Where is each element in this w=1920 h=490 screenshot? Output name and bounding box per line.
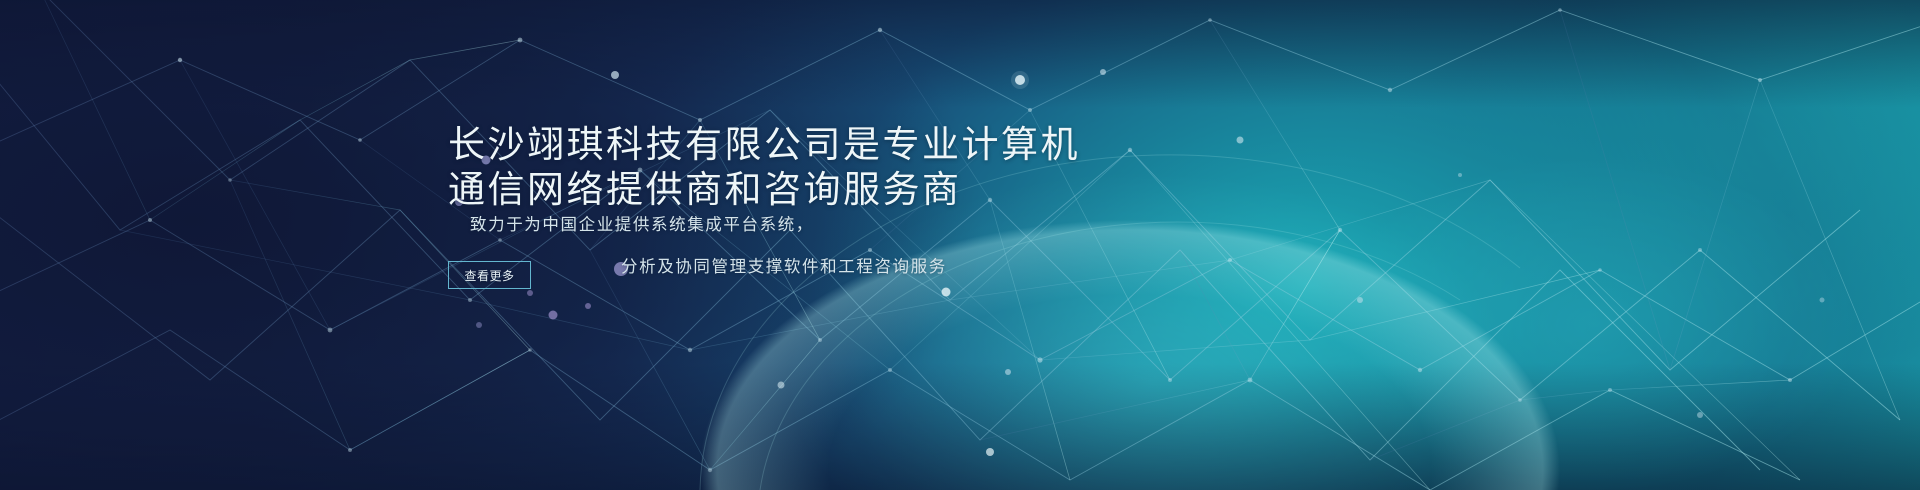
subtitle-line-1: 致力于为中国企业提供系统集成平台系统，: [470, 213, 814, 237]
hero-banner: 长沙翊琪科技有限公司是专业计算机 通信网络提供商和咨询服务商 致力于为中国企业提…: [0, 0, 1920, 490]
view-more-button[interactable]: 查看更多: [448, 261, 531, 289]
headline-line-2: 通信网络提供商和咨询服务商: [448, 167, 1408, 212]
subtitle-line-2: 分析及协同管理支撑软件和工程咨询服务: [621, 255, 947, 279]
page-title: 长沙翊琪科技有限公司是专业计算机 通信网络提供商和咨询服务商: [448, 122, 1408, 212]
hero-content: 长沙翊琪科技有限公司是专业计算机 通信网络提供商和咨询服务商 致力于为中国企业提…: [448, 0, 1448, 490]
headline-line-1: 长沙翊琪科技有限公司是专业计算机: [448, 124, 1080, 165]
